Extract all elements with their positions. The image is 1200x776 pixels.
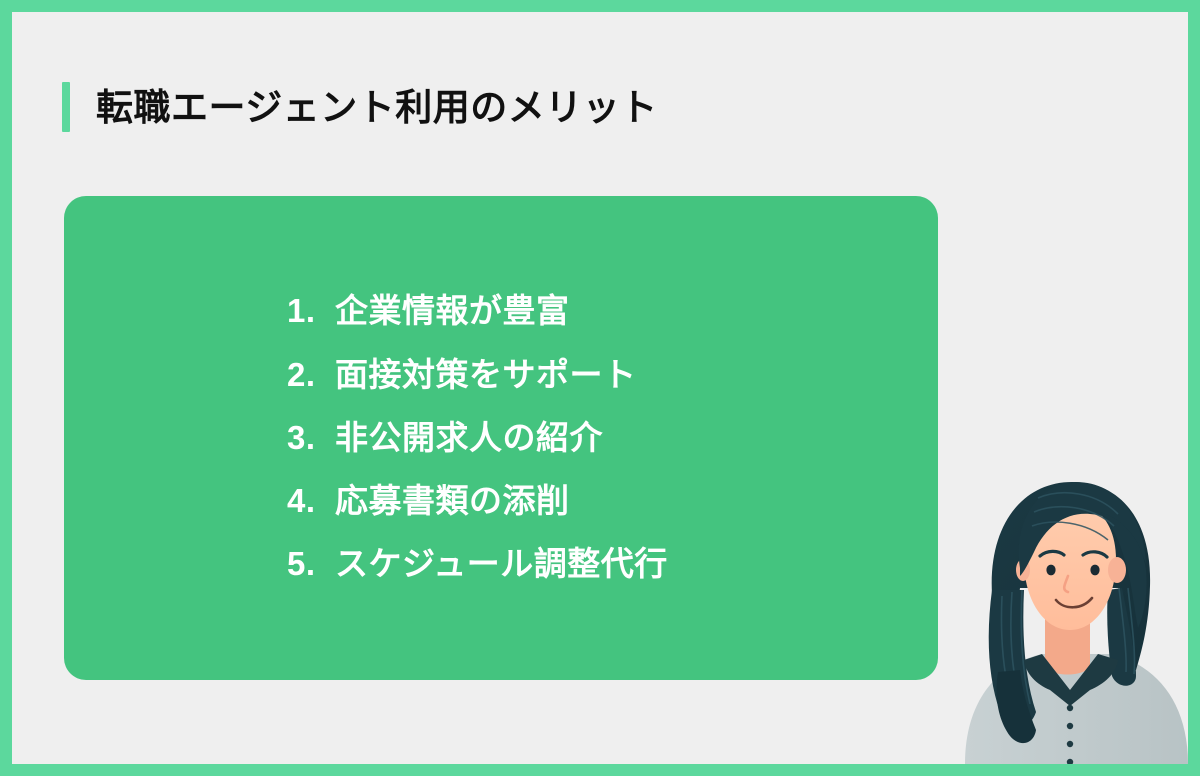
list-item-number: 2.	[287, 357, 335, 393]
hair-front	[1019, 482, 1146, 576]
list-item: 5. スケジュール調整代行	[287, 546, 668, 582]
list-item-label: 企業情報が豊富	[335, 293, 570, 329]
title-text: 転職エージェント利用のメリット	[96, 89, 658, 126]
list-item-number: 3.	[287, 420, 335, 456]
hair-back	[992, 482, 1150, 676]
collar	[1024, 654, 1118, 706]
eyebrow-left	[1040, 551, 1064, 556]
merit-list: 1. 企業情報が豊富 2. 面接対策をサポート 3. 非公開求人の紹介 4. 応…	[64, 196, 938, 680]
slide-content-area: 転職エージェント利用のメリット 1. 企業情報が豊富 2. 面接対策をサポート …	[12, 12, 1188, 764]
list-item: 4. 応募書類の添削	[287, 483, 570, 519]
eye-right	[1090, 565, 1099, 576]
list-item-label: 面接対策をサポート	[335, 357, 637, 393]
hair-strands	[1002, 493, 1135, 710]
slide-frame: 転職エージェント利用のメリット 1. 企業情報が豊富 2. 面接対策をサポート …	[0, 0, 1200, 776]
title-accent-bar	[62, 82, 70, 132]
hair-left-fall	[989, 590, 1036, 727]
page-title: 転職エージェント利用のメリット	[62, 76, 658, 138]
list-item-label: スケジュール調整代行	[335, 546, 668, 582]
list-item-number: 5.	[287, 546, 335, 582]
blouse-shape	[965, 654, 1188, 764]
list-item: 3. 非公開求人の紹介	[287, 420, 603, 456]
mouth	[1056, 598, 1092, 607]
list-item-label: 非公開求人の紹介	[335, 420, 603, 456]
eyebrow-right	[1083, 552, 1107, 557]
list-item: 2. 面接対策をサポート	[287, 357, 637, 393]
hair-right-fall	[1107, 588, 1136, 686]
blouse-buttons	[1067, 705, 1073, 764]
nose	[1064, 576, 1068, 592]
eye-left	[1046, 565, 1055, 576]
list-item-label: 応募書類の添削	[335, 483, 570, 519]
face-shape	[1024, 502, 1116, 630]
list-item-number: 1.	[287, 293, 335, 329]
woman-illustration	[950, 464, 1188, 764]
list-item-number: 4.	[287, 483, 335, 519]
merits-card: 1. 企業情報が豊富 2. 面接対策をサポート 3. 非公開求人の紹介 4. 応…	[64, 196, 938, 680]
list-item: 1. 企業情報が豊富	[287, 293, 570, 329]
hair-shoulder-left	[997, 670, 1037, 743]
